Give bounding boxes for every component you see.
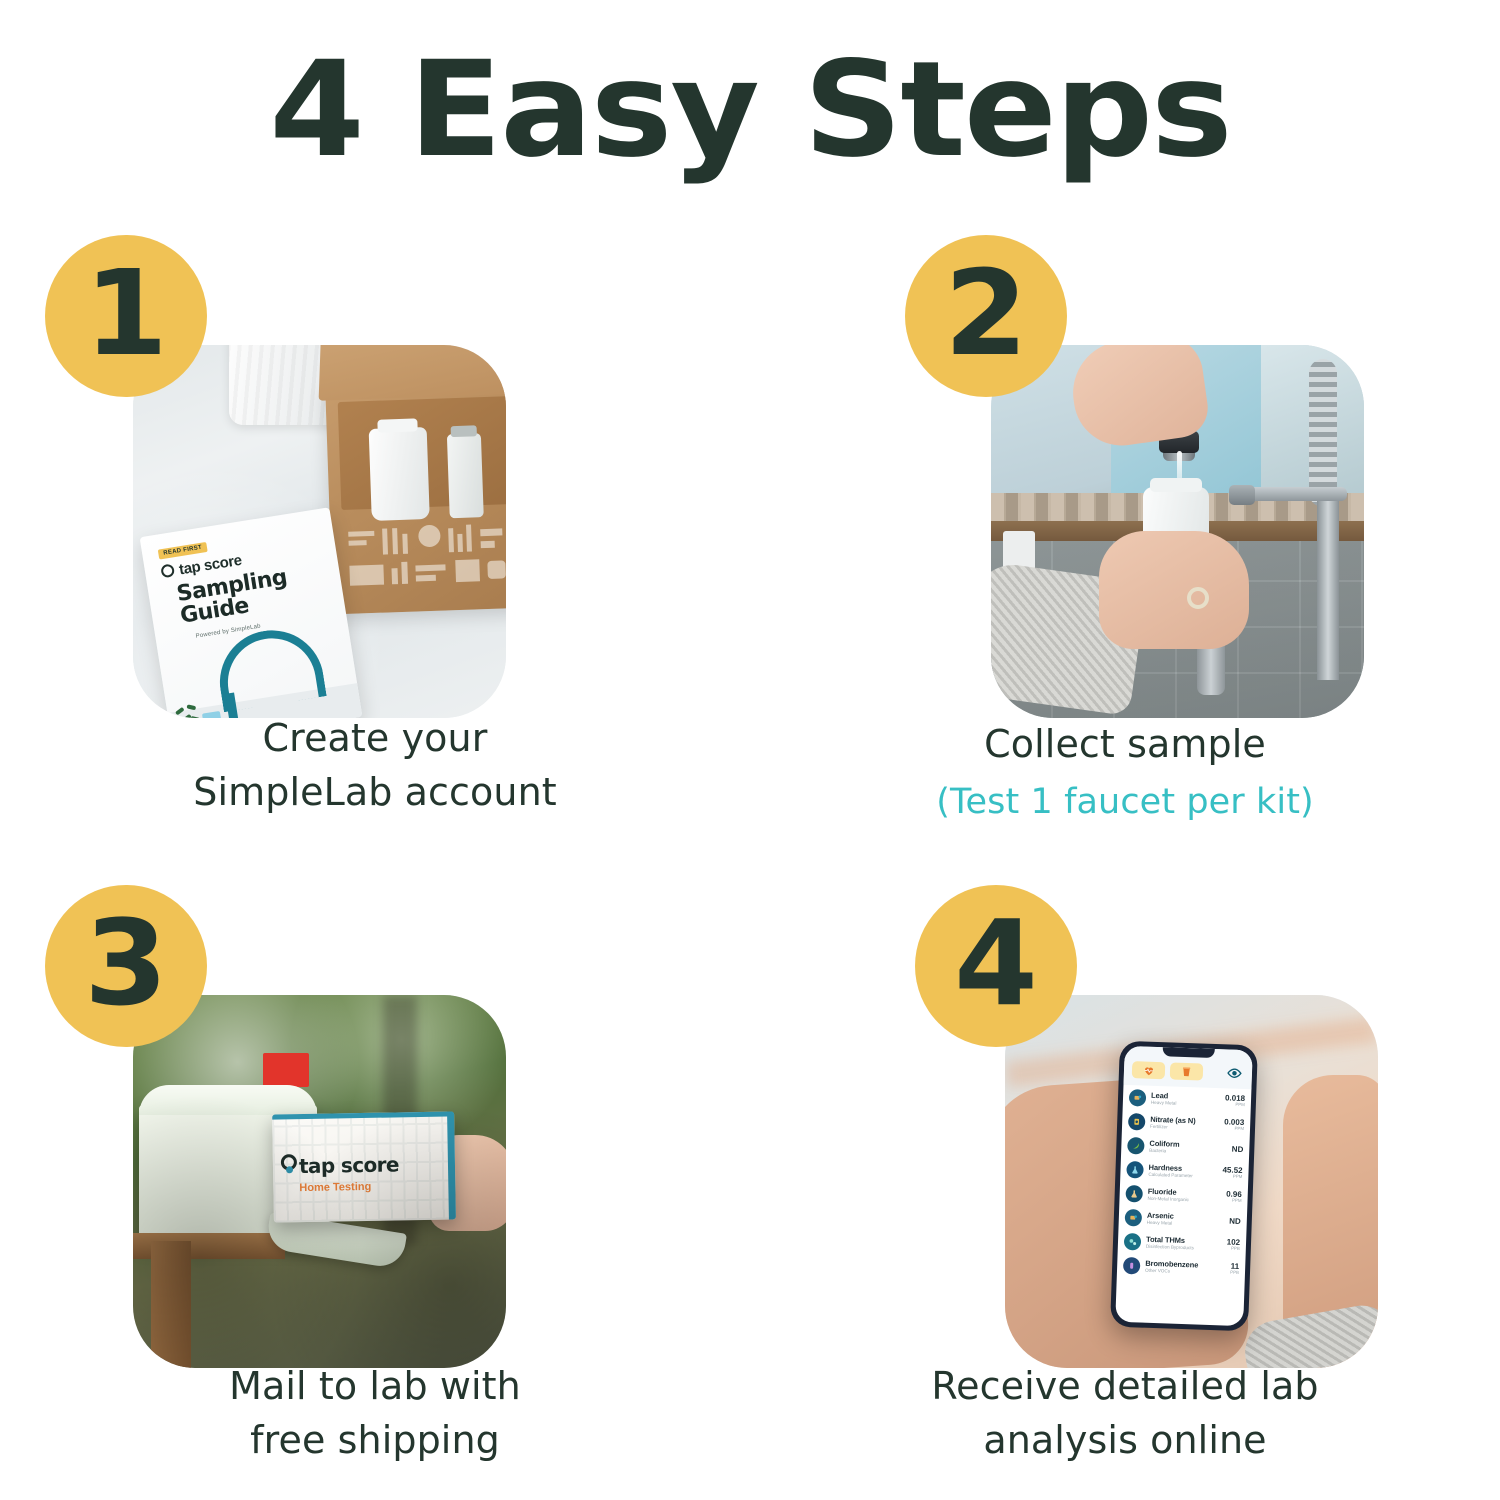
step-number-badge-2: 2 [905, 235, 1067, 397]
phone-notch [1163, 1047, 1215, 1058]
step-1-photo: READ FIRST tap score Sampling Guide Powe… [133, 345, 506, 718]
flask-icon [1126, 1161, 1144, 1179]
step-4-photo: Lead Heavy Metal 0.018 PPM [1005, 995, 1378, 1368]
step-2-photo [991, 345, 1364, 718]
lead-pipe-icon [1129, 1089, 1147, 1107]
tap-score-mark-icon [160, 563, 175, 578]
mailbox-door-icon [265, 1212, 407, 1269]
results-list: Lead Heavy Metal 0.018 PPM [1117, 1085, 1252, 1281]
hand-holding-bottle [1099, 531, 1249, 649]
sample-vial-icon [447, 433, 484, 518]
hand-holding-box [429, 1135, 506, 1231]
ring-icon [1187, 587, 1209, 609]
smartphone: Lead Heavy Metal 0.018 PPM [1110, 1041, 1258, 1332]
result-row[interactable]: Bromobenzene Other VOCs 11 PPB [1123, 1253, 1240, 1281]
phone-results-photo: Lead Heavy Metal 0.018 PPM [1005, 995, 1378, 1368]
arsenic-icon [1125, 1209, 1143, 1227]
tap-score-wordmark: tap score [299, 1152, 399, 1178]
drinking-cup-icon[interactable] [1170, 1062, 1204, 1080]
beaker-icon [1125, 1185, 1143, 1203]
mailbox-flag-icon [263, 1053, 309, 1087]
faucet-spring-icon [1309, 359, 1337, 507]
heart-pulse-icon[interactable] [1132, 1061, 1166, 1079]
eye-icon[interactable] [1226, 1065, 1243, 1082]
collect-sample-photo [991, 345, 1364, 718]
fertilizer-icon [1128, 1113, 1146, 1131]
kit-box-icon [325, 378, 506, 615]
sample-bottle-icon [369, 427, 430, 521]
sampling-guide-booklet: READ FIRST tap score Sampling Guide Powe… [140, 507, 363, 718]
home-testing-label: Home Testing [299, 1181, 371, 1194]
step-2-caption: Collect sample (Test 1 faucet per kit) [750, 718, 1500, 828]
bubbles-icon [1124, 1233, 1142, 1251]
step-2-subcaption: (Test 1 faucet per kit) [750, 778, 1500, 828]
step-3-caption: Mail to lab with free shipping [0, 1360, 750, 1468]
read-first-badge: READ FIRST [158, 542, 208, 560]
steps-grid: READ FIRST tap score Sampling Guide Powe… [0, 225, 1500, 1500]
phone-screen: Lead Heavy Metal 0.018 PPM [1115, 1046, 1253, 1326]
bacteria-icon [1127, 1137, 1145, 1155]
step-1-caption: Create your SimpleLab account [0, 712, 750, 820]
infographic-page: 4 Easy Steps [0, 0, 1500, 1500]
tap-score-mark-icon [281, 1154, 297, 1170]
mailbox-photo: tap score Home Testing [133, 995, 506, 1368]
step-3-photo: tap score Home Testing [133, 995, 506, 1368]
sampling-kit-photo: READ FIRST tap score Sampling Guide Powe… [133, 345, 506, 718]
step-number-badge-4: 4 [915, 885, 1077, 1047]
mailbox-icon [139, 1105, 317, 1243]
page-title: 4 Easy Steps [0, 44, 1500, 176]
step-number-badge-1: 1 [45, 235, 207, 397]
tap-score-shipping-box: tap score Home Testing [272, 1111, 456, 1222]
voc-vial-icon [1123, 1257, 1141, 1275]
step-number-badge-3: 3 [45, 885, 207, 1047]
step-4-caption: Receive detailed lab analysis online [750, 1360, 1500, 1468]
